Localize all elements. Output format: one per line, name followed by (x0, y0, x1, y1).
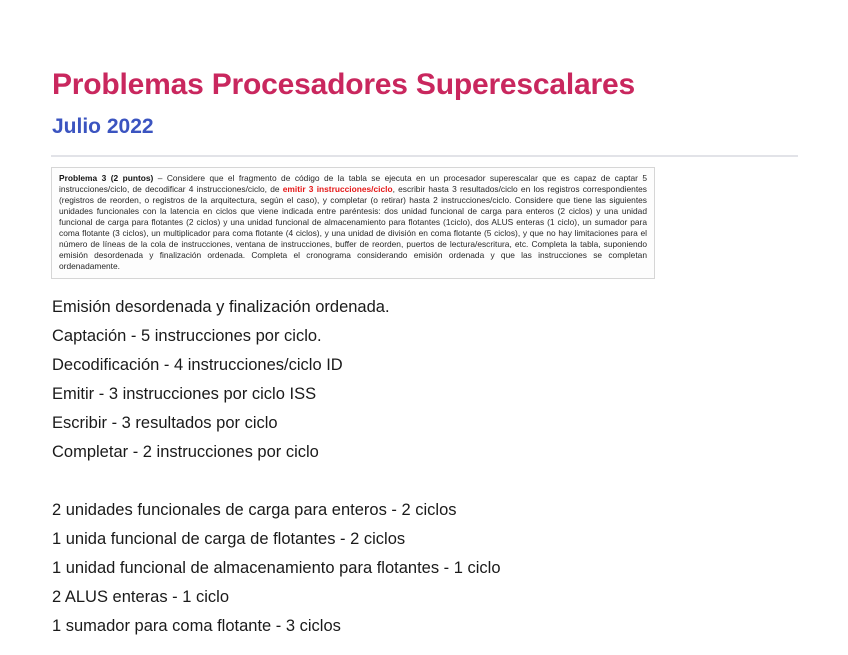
body-line: 1 unida funcional de carga de flotantes … (52, 525, 812, 554)
problema-3-statement-image: Problema 3 (2 puntos) – Considere que el… (51, 167, 655, 279)
body-line: Emisión desordenada y finalización orden… (52, 293, 812, 322)
scan-paragraph: Problema 3 (2 puntos) – Considere que el… (59, 173, 647, 272)
body-line: 1 unidad funcional de almacenamiento par… (52, 554, 812, 583)
body-line: Decodificación - 4 instrucciones/ciclo I… (52, 351, 812, 380)
body-line: Captación - 5 instrucciones por ciclo. (52, 322, 812, 351)
body-line: 2 ALUS enteras - 1 ciclo (52, 583, 812, 612)
body-line: Escribir - 3 resultados por ciclo (52, 409, 812, 438)
scan-lead-label: Problema 3 (2 puntos) (59, 173, 153, 183)
body-line: Emitir - 3 instrucciones por ciclo ISS (52, 380, 812, 409)
body-spacer (52, 467, 812, 496)
page-title: Problemas Procesadores Superescalares (52, 68, 812, 103)
body-line: Completar - 2 instrucciones por ciclo (52, 438, 812, 467)
body-text-block: Emisión desordenada y finalización orden… (52, 293, 812, 641)
scan-highlight-text: emitir 3 instrucciones/ciclo (283, 184, 393, 194)
title-block: Problemas Procesadores Superescalares Ju… (52, 68, 812, 139)
body-line: 2 unidades funcionales de carga para ent… (52, 496, 812, 525)
scan-text-part-2: , escribir hasta 3 resultados/ciclo en l… (59, 184, 647, 271)
header-divider (51, 155, 798, 157)
slide-subtitle: Julio 2022 (52, 114, 812, 139)
body-line: 1 sumador para coma flotante - 3 ciclos (52, 612, 812, 641)
slide-canvas: Problemas Procesadores Superescalares Ju… (0, 0, 848, 655)
